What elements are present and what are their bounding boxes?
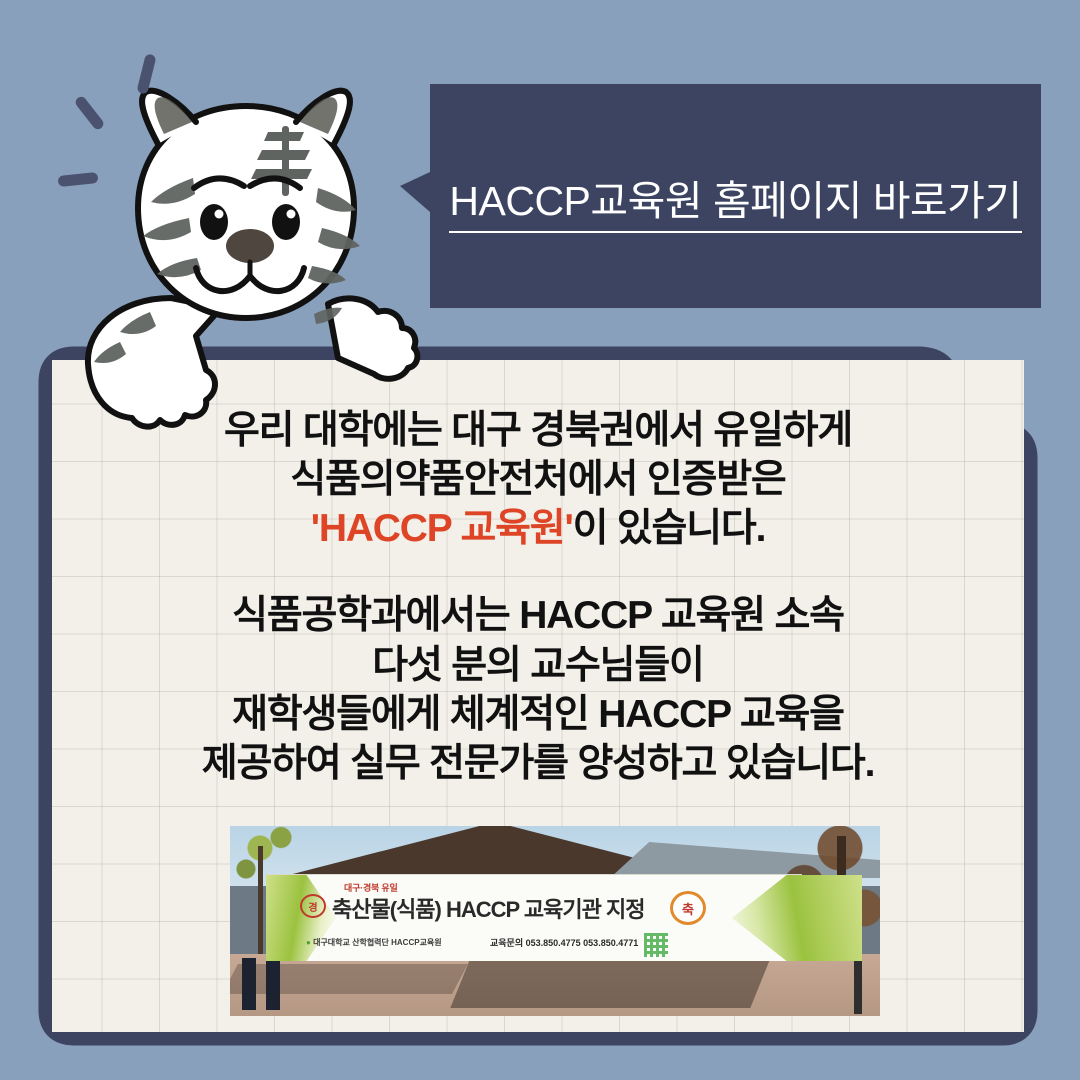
haccp-homepage-link[interactable]: HACCP교육원 홈페이지 바로가기 xyxy=(430,84,1041,308)
photo-banner: 대구·경북 유일 경 축산물(식품) HACCP 교육기관 지정 축 ● 대구대… xyxy=(266,874,802,961)
accent-text: 'HACCP 교육원' xyxy=(311,507,573,550)
white-tiger-mascot xyxy=(46,36,446,436)
photo-person xyxy=(242,958,256,1010)
banner-swoosh-right xyxy=(732,875,862,961)
ceremony-photo: 대구·경북 유일 경 축산물(식품) HACCP 교육기관 지정 축 ● 대구대… xyxy=(230,826,880,1016)
card-paper-surface: 우리 대학에는 대구 경북권에서 유일하게 식품의약품안전처에서 인증받은 'H… xyxy=(52,360,1024,1032)
copy-line: 다섯 분의 교수님들이 xyxy=(92,641,984,690)
photo-shadow xyxy=(450,960,769,1008)
haccp-homepage-link-label: HACCP교육원 홈페이지 바로가기 xyxy=(449,167,1021,233)
paragraph-spacer xyxy=(92,553,984,591)
tiger-illustration xyxy=(46,36,446,436)
homepage-link-banner[interactable]: HACCP교육원 홈페이지 바로가기 xyxy=(430,84,1041,308)
banner-tel-line: 교육문의 053.850.4775 053.850.4771 xyxy=(490,936,638,949)
banner-org-line: ● 대구대학교 산학협력단 HACCP교육원 xyxy=(306,937,442,948)
photo-person xyxy=(266,958,280,1010)
banner-headline: 축산물(식품) HACCP 교육기관 지정 xyxy=(332,892,644,924)
poster-canvas: 우리 대학에는 대구 경북권에서 유일하게 식품의약품안전처에서 인증받은 'H… xyxy=(0,0,1080,1080)
qr-code-icon xyxy=(644,933,668,957)
copy-line: 재학생들에게 체계적인 HACCP 교육을 xyxy=(92,690,984,739)
copy-line: 제공하여 실무 전문가를 양성하고 있습니다. xyxy=(92,739,984,788)
copy-line-tail: 이 있습니다. xyxy=(573,507,766,550)
banner-chuk-icon: 축 xyxy=(670,891,706,925)
copy-line: 식품의약품안전처에서 인증받은 xyxy=(92,455,984,504)
banner-org-text: 대구대학교 산학협력단 HACCP교육원 xyxy=(313,938,442,947)
card-body-copy: 우리 대학에는 대구 경북권에서 유일하게 식품의약품안전처에서 인증받은 'H… xyxy=(92,406,984,788)
photo-trunk-left xyxy=(258,846,263,966)
bullet-icon: ● xyxy=(306,938,311,947)
banner-seal-icon: 경 xyxy=(300,894,326,918)
banner-swoosh-left xyxy=(266,875,336,961)
content-card: 우리 대학에는 대구 경북권에서 유일하게 식품의약품안전처에서 인증받은 'H… xyxy=(38,346,1038,1046)
copy-line-highlight: 'HACCP 교육원'이 있습니다. xyxy=(92,504,984,553)
copy-line: 식품공학과에서는 HACCP 교육원 소속 xyxy=(92,591,984,640)
